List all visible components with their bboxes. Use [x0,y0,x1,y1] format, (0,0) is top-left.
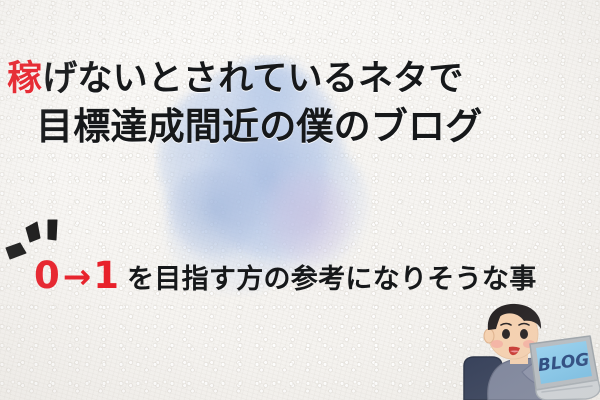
headline-line-2: 目標達成間近の僕のブログ [0,102,600,152]
headline-line-1: 稼げないとされているネタで [0,56,600,102]
subline-one: 1 [93,256,120,296]
subline-arrow-icon: → [63,257,92,297]
headline-line-1-rest: げないとされているネタで [42,59,463,99]
subline-zero: 0 [34,256,61,296]
banner-canvas: 稼げないとされているネタで 目標達成間近の僕のブログ 0 → 1 を目指す方の参… [0,0,600,400]
subline-block: 0 → 1 を目指す方の参考になりそうな事 [34,256,537,300]
man-typing-on-laptop-illustration: BLOG [462,302,600,400]
subline-rest-text: を目指す方の参考になりそうな事 [127,260,537,300]
headline-highlight-kanji: 稼 [7,59,42,99]
headline-block: 稼げないとされているネタで 目標達成間近の僕のブログ [0,56,600,152]
